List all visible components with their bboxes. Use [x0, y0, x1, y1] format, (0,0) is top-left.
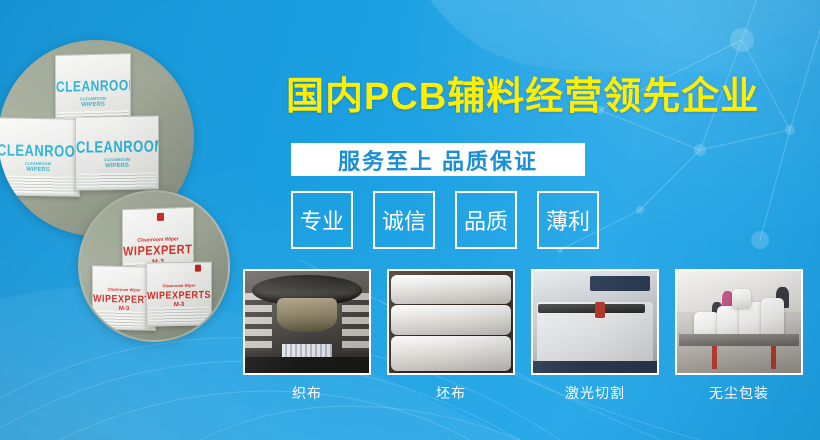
banner-headline: 国内PCB辅料经营领先企业 — [286, 72, 759, 122]
tag-box-quality[interactable]: 品质 — [455, 191, 517, 249]
process-photo-card-laser-cutting[interactable]: 激光切割 — [531, 269, 659, 403]
pack-stamp — [195, 265, 201, 272]
pack-ridges — [95, 310, 153, 328]
tag-box-professional[interactable]: 专业 — [291, 191, 353, 249]
pack-sub-label-2: WIPERS — [56, 101, 130, 109]
pack-ridges — [0, 176, 77, 194]
process-photo-caption: 激光切割 — [531, 383, 659, 403]
process-photo-cleanroom-packing — [675, 269, 803, 375]
pack-stamp — [157, 213, 164, 221]
wipe-pack: Cleanroom Wiper WIPEXPERTS M-3 — [146, 261, 212, 326]
process-photo-strip: 织布 坯布 — [243, 269, 803, 403]
process-photo-card-weaving[interactable]: 织布 — [243, 269, 371, 403]
product-photo-wipexperts: Cleanroom Wiper WIPEXPERTS M-3 Cleanroom… — [78, 190, 230, 342]
process-photo-caption: 坯布 — [387, 383, 515, 403]
pack-brand-label: CLEANROOM — [76, 137, 158, 157]
value-tag-row: 专业 诚信 品质 薄利 — [291, 191, 599, 249]
banner-subtitle: 服务至上 品质保证 — [338, 144, 538, 176]
tag-box-integrity[interactable]: 诚信 — [373, 191, 435, 249]
process-photo-caption: 织布 — [243, 383, 371, 403]
pack-sub-label-2: WIPERS — [0, 166, 79, 173]
pack-brand-label: CLEANROOM — [56, 76, 130, 95]
pack-ridges — [149, 306, 209, 323]
pack-brand-label: WIPEXPERTS — [123, 243, 193, 259]
process-photo-caption: 无尘包装 — [675, 383, 803, 403]
promo-banner: CLEANROOM CLEANROOM WIPERS CLEANROOM CLE… — [0, 0, 820, 440]
process-photo-greige-fabric — [387, 269, 515, 375]
pack-brand-label: CLEANROOM — [0, 140, 79, 160]
process-photo-card-cleanroom-packing[interactable]: 无尘包装 — [675, 269, 803, 403]
wipe-pack: CLEANROOM CLEANROOM WIPERS — [75, 115, 159, 190]
process-photo-card-greige-fabric[interactable]: 坯布 — [387, 269, 515, 403]
process-photo-weaving — [243, 269, 371, 375]
process-photo-laser-cutting — [531, 269, 659, 375]
pack-sub-label-2: WIPERS — [76, 162, 158, 169]
wipe-pack: CLEANROOM CLEANROOM WIPERS — [0, 117, 80, 196]
banner-subtitle-band: 服务至上 品质保证 — [291, 143, 585, 176]
tag-box-low-margin[interactable]: 薄利 — [537, 191, 599, 249]
pack-brand-label: WIPEXPERTS — [147, 289, 211, 302]
pack-ridges — [78, 172, 156, 187]
pack-sub-label-1: Cleanroom Wiper — [147, 282, 211, 288]
